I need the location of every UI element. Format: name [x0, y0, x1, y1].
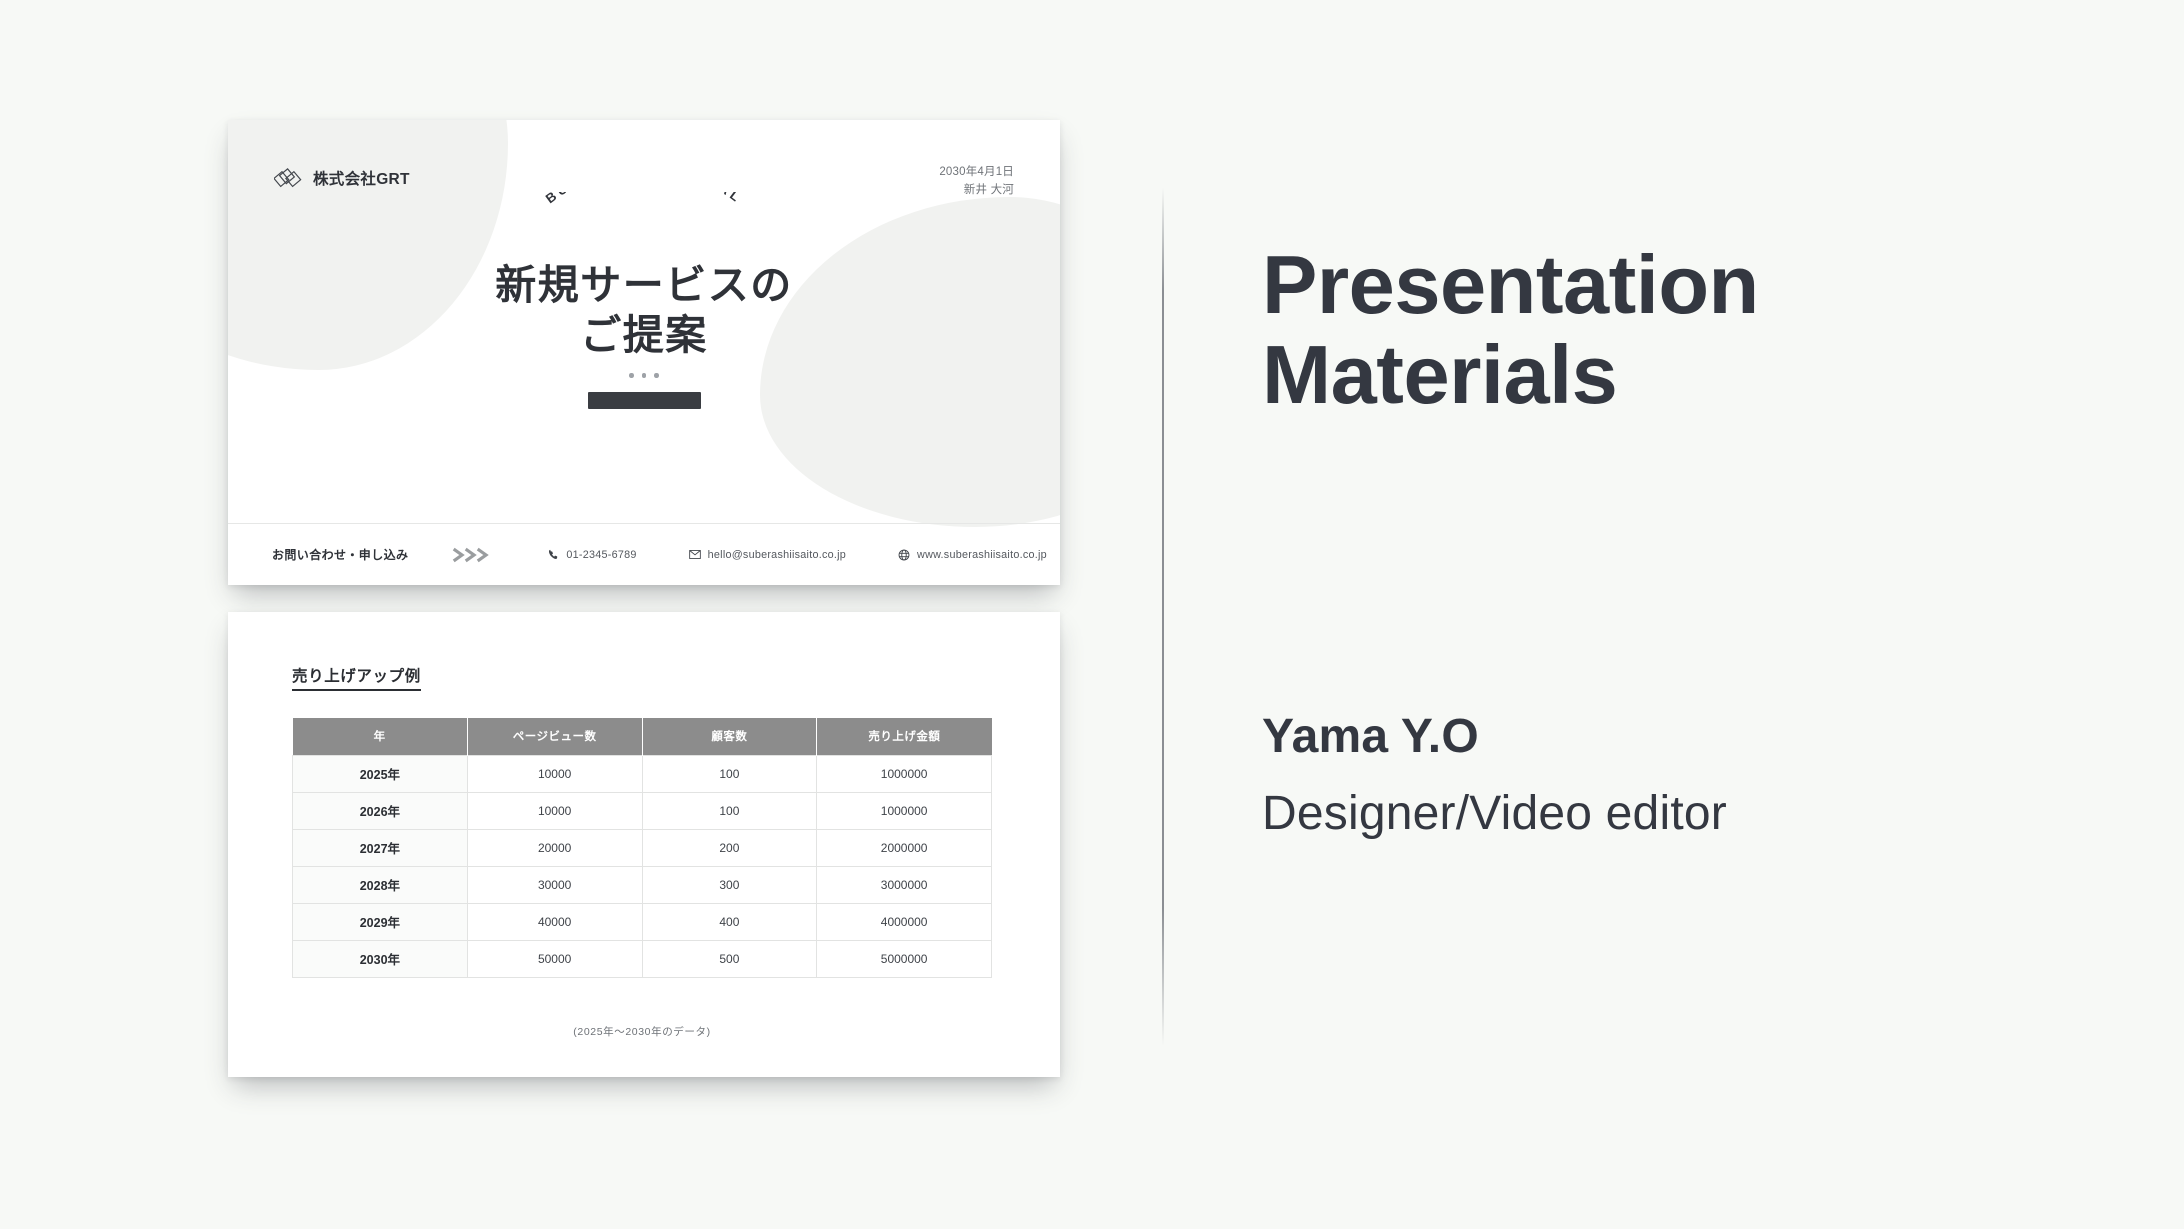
- cell-customers: 300: [642, 866, 817, 903]
- cell-pageviews: 10000: [467, 755, 642, 792]
- cover-title-line-2: ご提案: [495, 310, 793, 360]
- cover-footer: お問い合わせ・申し込み 01-2345-6789: [228, 523, 1060, 585]
- eyebrow-arc-text: BUSINESS PROPOSAL: [484, 192, 804, 264]
- cell-sales: 4000000: [817, 903, 992, 940]
- cell-pageviews: 20000: [467, 829, 642, 866]
- table-row: 2026年 10000 100 1000000: [293, 792, 992, 829]
- cell-customers: 400: [642, 903, 817, 940]
- cell-customers: 100: [642, 792, 817, 829]
- table-row: 2027年 20000 200 2000000: [293, 829, 992, 866]
- cell-customers: 500: [642, 940, 817, 977]
- right-panel: Presentation Materials Yama Y.O Designer…: [1262, 240, 2142, 841]
- column-header-sales: 売り上げ金額: [817, 718, 992, 755]
- cell-pageviews: 30000: [467, 866, 642, 903]
- envelope-icon: [689, 549, 701, 560]
- page-title-line-1: Presentation: [1262, 240, 2142, 330]
- cell-year: 2027年: [293, 829, 468, 866]
- cell-year: 2030年: [293, 940, 468, 977]
- table-row: 2030年 50000 500 5000000: [293, 940, 992, 977]
- cover-title-line-1: 新規サービスの: [495, 260, 793, 310]
- company-logo: 株式会社GRT: [274, 167, 410, 189]
- diamond-logo-icon: [274, 167, 302, 189]
- page-title-line-2: Materials: [1262, 330, 2142, 420]
- eyebrow-label: BUSINESS PROPOSAL: [543, 192, 745, 206]
- cover-center-block: BUSINESS PROPOSAL 新規サービスの ご提案: [228, 192, 1060, 409]
- contact-label: お問い合わせ・申し込み: [272, 546, 408, 563]
- cell-sales: 1000000: [817, 755, 992, 792]
- page-title: Presentation Materials: [1262, 240, 2142, 419]
- table-row: 2029年 40000 400 4000000: [293, 903, 992, 940]
- accent-bar: [588, 392, 701, 409]
- cell-year: 2029年: [293, 903, 468, 940]
- column-header-year: 年: [293, 718, 468, 755]
- phone-number: 01-2345-6789: [566, 549, 636, 561]
- table-row: 2025年 10000 100 1000000: [293, 755, 992, 792]
- svg-text:BUSINESS PROPOSAL: BUSINESS PROPOSAL: [543, 192, 745, 206]
- vertical-divider: [1162, 188, 1164, 1046]
- cell-sales: 3000000: [817, 866, 992, 903]
- cell-sales: 5000000: [817, 940, 992, 977]
- cell-pageviews: 40000: [467, 903, 642, 940]
- chevron-right-icon: [452, 547, 496, 563]
- cell-year: 2025年: [293, 755, 468, 792]
- table-caption: (2025年〜2030年のデータ): [292, 1024, 992, 1039]
- cell-pageviews: 50000: [467, 940, 642, 977]
- cell-sales: 2000000: [817, 829, 992, 866]
- company-name: 株式会社GRT: [313, 167, 410, 189]
- dot-3: [654, 373, 659, 378]
- author-role: Designer/Video editor: [1262, 786, 2142, 841]
- slide-date: 2030年4月1日: [939, 164, 1014, 182]
- contact-email: hello@suberashiisaito.co.jp: [689, 549, 846, 561]
- email-address: hello@suberashiisaito.co.jp: [708, 549, 846, 561]
- contact-website: www.suberashiisaito.co.jp: [898, 549, 1047, 561]
- slide-thumbnail-table[interactable]: 売り上げアップ例 年 ページビュー数 顧客数 売り上げ金額 2025年 1000…: [228, 612, 1060, 1077]
- cell-year: 2028年: [293, 866, 468, 903]
- slide-thumbnail-cover[interactable]: 株式会社GRT 2030年4月1日 新井 大河 BUSINESS PROPOSA…: [228, 120, 1060, 585]
- dot-ornament: [629, 373, 659, 378]
- table-slide-heading: 売り上げアップ例: [292, 664, 421, 691]
- table-row: 2028年 30000 300 3000000: [293, 866, 992, 903]
- globe-icon: [898, 549, 910, 561]
- column-header-customers: 顧客数: [642, 718, 817, 755]
- website-url: www.suberashiisaito.co.jp: [917, 549, 1047, 561]
- author-name: Yama Y.O: [1262, 709, 2142, 764]
- cell-customers: 100: [642, 755, 817, 792]
- dot-2: [642, 373, 647, 378]
- slide-thumbnail-list: 株式会社GRT 2030年4月1日 新井 大河 BUSINESS PROPOSA…: [228, 120, 1060, 1077]
- cell-sales: 1000000: [817, 792, 992, 829]
- page-root: 株式会社GRT 2030年4月1日 新井 大河 BUSINESS PROPOSA…: [0, 0, 2184, 1229]
- contact-phone: 01-2345-6789: [548, 549, 636, 561]
- column-header-pageviews: ページビュー数: [467, 718, 642, 755]
- cell-customers: 200: [642, 829, 817, 866]
- sales-growth-table: 年 ページビュー数 顧客数 売り上げ金額 2025年 10000 100 100…: [292, 718, 992, 978]
- table-header-row: 年 ページビュー数 顧客数 売り上げ金額: [293, 718, 992, 755]
- cell-year: 2026年: [293, 792, 468, 829]
- cell-pageviews: 10000: [467, 792, 642, 829]
- phone-icon: [548, 549, 559, 560]
- dot-1: [629, 373, 634, 378]
- cover-title: 新規サービスの ご提案: [495, 260, 793, 360]
